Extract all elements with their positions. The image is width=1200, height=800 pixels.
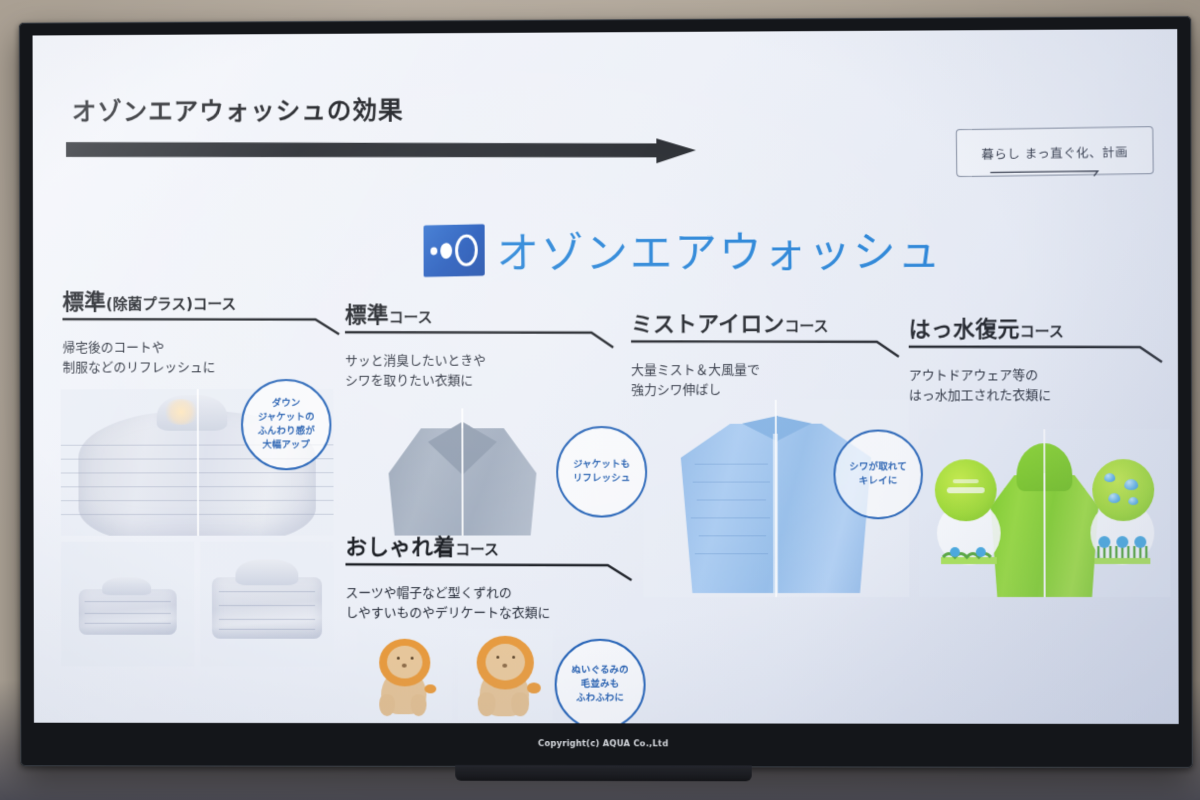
folded-jacket-shape — [79, 589, 177, 635]
title-arrow-icon — [66, 138, 696, 166]
logo-dot-small — [430, 247, 437, 255]
course-underline-arrow-icon — [345, 562, 641, 581]
course-heading-main: はっ水復元 — [909, 317, 1020, 342]
folded-jacket-collar — [102, 577, 151, 595]
callout-line: ジャケットも — [573, 459, 630, 470]
photo-down-jacket-folded-after — [200, 542, 334, 667]
course-mist-iron: ミストアイロンコース 大量ミスト＆大風量で 強力シワ伸ばし — [631, 306, 909, 400]
course-heading: おしゃれ着コース — [345, 529, 641, 561]
callout-blazer: ジャケットも リフレッシュ — [556, 426, 647, 518]
callout-line: ダウン — [272, 398, 301, 409]
photo-plush-lion-after — [458, 629, 553, 720]
badge-underline-arrow-icon — [990, 169, 1110, 179]
course-heading-suffix: コース — [455, 540, 499, 558]
plush-lion — [458, 629, 553, 720]
course-heading-main: おしゃれ着 — [345, 536, 455, 561]
course-rule — [62, 316, 351, 336]
callout-line: ジャケットの — [258, 412, 315, 423]
course-underline-arrow-icon — [62, 316, 351, 336]
course-heading: はっ水復元コース — [909, 311, 1170, 344]
plush-lion — [357, 629, 452, 720]
presentation-slide: オゾンエアウォッシュの効果 暮らし まっ直ぐ化、計画 — [33, 29, 1179, 724]
callout-text: ダウン ジャケットの ふんわり感が 大幅アップ — [258, 397, 315, 452]
fabric-closeup-before — [935, 459, 997, 521]
photo-green-jacket — [919, 429, 1171, 597]
callout-text: シワが取れて キレイに — [849, 461, 907, 489]
course-heading: ミストアイロンコース — [631, 306, 909, 339]
course-underline-arrow-icon — [909, 344, 1170, 364]
down-jacket-highlight — [163, 399, 200, 425]
course-heading-suffix: コース — [785, 317, 829, 335]
course-rule — [345, 330, 623, 350]
callout-line: 毛並みも — [581, 679, 619, 690]
campaign-badge-label: 暮らし まっ直ぐ化、計画 — [981, 141, 1128, 162]
course-description-line2: シワを取りたい衣類に — [345, 371, 623, 391]
campaign-badge: 暮らし まっ直ぐ化、計画 — [956, 126, 1154, 177]
photo-plush-lion-before — [357, 629, 452, 720]
callout-text: ぬいぐるみの 毛並みも ふわふわに — [571, 664, 628, 705]
course-heading-main: ミストアイロン — [631, 312, 785, 337]
course-description-line2: しやすいものやデリケートな衣類に — [346, 604, 642, 623]
course-delicate-wear: おしゃれ着コース スーツや帽子など型くずれの しやすいものやデリケートな衣類に — [345, 529, 641, 623]
course-standard: 標準コース サッと消臭したいときや シワを取りたい衣類に — [345, 297, 623, 391]
folded-jacket-shape — [212, 577, 322, 638]
course-heading: 標準(除菌プラス)コース — [62, 284, 351, 317]
callout-line: 大幅アップ — [262, 439, 310, 450]
course-description-line1: アウトドアウェア等の — [909, 366, 1170, 386]
copyright-notice: Copyright(c) AQUA Co.,Ltd — [538, 739, 668, 749]
course-heading-paren: (除菌プラス) — [106, 295, 193, 313]
course-description-line2: はっ水加工された衣類に — [909, 386, 1170, 406]
before-after-divider — [461, 408, 463, 535]
before-after-divider — [197, 389, 199, 536]
course-heading: 標準コース — [345, 297, 623, 330]
callout-text: ジャケットも リフレッシュ — [573, 458, 631, 485]
logo-wordmark: オゾンエアウォッシュ — [496, 218, 942, 281]
course-heading-suffix: コース — [1020, 322, 1064, 340]
course-rule — [909, 344, 1170, 364]
course-water-repellent-restore: はっ水復元コース アウトドアウェア等の はっ水加工された衣類に — [909, 311, 1170, 405]
logo-dot-large — [440, 243, 452, 259]
course-heading-suffix: コース — [389, 308, 433, 326]
fiber-diagram-upright-icon — [1090, 531, 1154, 565]
course-rule — [345, 562, 641, 581]
tv-screen: オゾンエアウォッシュの効果 暮らし まっ直ぐ化、計画 — [33, 29, 1179, 724]
course-heading-main: 標準 — [345, 303, 389, 328]
callout-down-jacket: ダウン ジャケットの ふんわり感が 大幅アップ — [241, 379, 332, 470]
callout-plush: ぬいぐるみの 毛並みも ふわふわに — [555, 639, 646, 724]
course-underline-arrow-icon — [631, 339, 909, 359]
course-underline-arrow-icon — [345, 330, 623, 350]
ozone-air-wash-logo-mark — [424, 224, 485, 277]
course-heading-suffix: コース — [193, 295, 236, 313]
photo-down-jacket-folded-before — [61, 542, 194, 667]
callout-line: ふんわり感が — [258, 426, 315, 437]
course-description-line1: サッと消臭したいときや — [345, 351, 623, 371]
callout-line: リフレッシュ — [573, 473, 631, 484]
callout-line: ぬいぐるみの — [571, 665, 628, 676]
callout-line: キレイに — [859, 475, 898, 486]
course-description-line2: 制服などのリフレッシュに — [63, 358, 352, 378]
folded-jacket-collar — [235, 559, 298, 585]
fabric-closeup-after — [1092, 459, 1154, 521]
television: オゾンエアウォッシュの効果 暮らし まっ直ぐ化、計画 — [19, 16, 1193, 768]
course-rule — [631, 339, 909, 359]
screenshot-root: オゾンエアウォッシュの効果 暮らし まっ直ぐ化、計画 — [0, 0, 1200, 800]
page-title: オゾンエアウォッシュの効果 — [72, 91, 404, 128]
callout-shirt: シワが取れて キレイに — [833, 429, 923, 519]
ozone-air-wash-logo: オゾンエアウォッシュ — [424, 218, 943, 282]
course-description-line1: 大量ミスト＆大風量で — [631, 361, 909, 381]
callout-line: シワが取れて — [849, 462, 907, 473]
logo-ring-icon — [455, 234, 478, 266]
course-description-line1: 帰宅後のコートや — [63, 338, 352, 358]
course-description-line2: 強力シワ伸ばし — [631, 380, 909, 400]
callout-line: ふわふわに — [576, 692, 624, 703]
course-standard-sterilize-plus: 標準(除菌プラス)コース 帰宅後のコートや 制服などのリフレッシュに — [62, 284, 352, 378]
photo-blazer — [357, 408, 566, 535]
course-description-line1: スーツや帽子など型くずれの — [346, 584, 642, 603]
tv-bottom-bezel: Copyright(c) AQUA Co.,Ltd — [34, 723, 1179, 766]
course-heading-main: 標準 — [62, 290, 106, 315]
tv-stand — [455, 765, 752, 781]
fiber-diagram-flat-icon — [937, 531, 1001, 565]
